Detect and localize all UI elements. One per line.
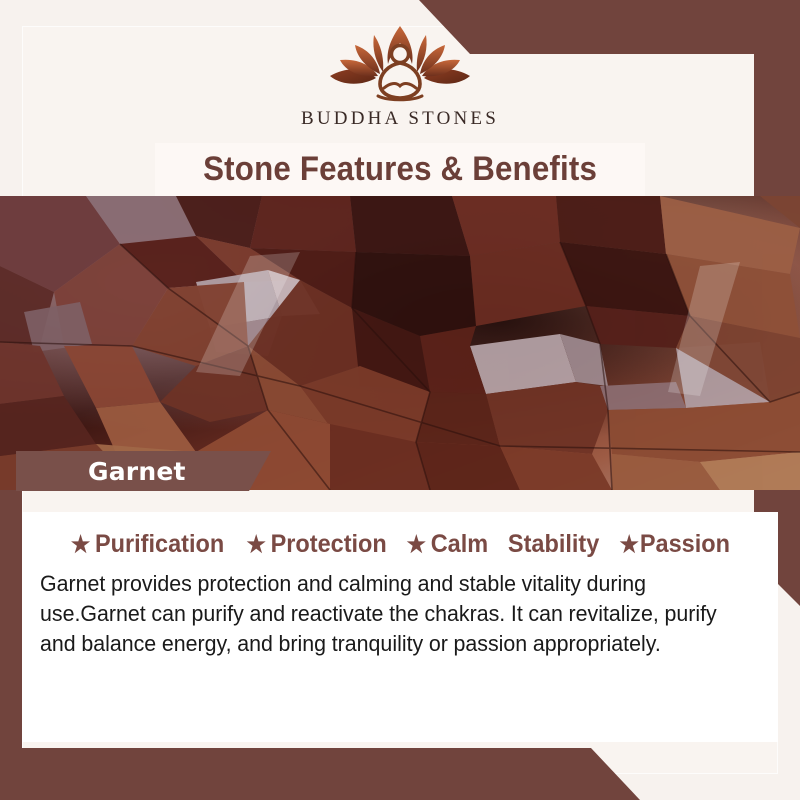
lotus-meditating-buddha-icon [318, 22, 482, 106]
content-card: ★ Purification ★ Protection ★ Calm Stabi… [22, 512, 778, 742]
benefit-label: Purification [95, 530, 224, 559]
benefit-label: Passion [640, 530, 730, 559]
star-icon: ★ [71, 533, 90, 556]
brand-name: BUDDHA STONES [301, 108, 499, 130]
star-icon: ★ [620, 533, 639, 556]
benefit-item-purification: ★ Purification [71, 530, 224, 559]
stone-name-banner: Garnet [16, 451, 271, 491]
star-icon: ★ [247, 533, 266, 556]
garnet-crystal-cluster-photo [0, 196, 800, 490]
page-title: Stone Features & Benefits [203, 150, 597, 189]
benefit-item-stability: Stability [508, 530, 599, 559]
benefit-item-protection: ★ Protection [247, 530, 387, 559]
star-icon: ★ [407, 533, 426, 556]
benefits-list: ★ Purification ★ Protection ★ Calm Stabi… [22, 530, 778, 559]
benefit-label: Calm [431, 530, 488, 559]
brand-logo: BUDDHA STONES [0, 22, 800, 142]
decor-left-band [0, 488, 22, 800]
benefit-label: Protection [271, 530, 387, 559]
title-banner: Stone Features & Benefits [155, 143, 645, 196]
stone-description: Garnet provides protection and calming a… [40, 569, 726, 659]
benefit-item-calm: ★ Calm [407, 530, 489, 559]
poster-root: BUDDHA STONES Stone Features & Benefits [0, 0, 800, 800]
benefit-item-passion: ★ Passion [620, 530, 730, 559]
benefit-label: Stability [508, 530, 599, 559]
stone-name: Garnet [88, 457, 186, 486]
